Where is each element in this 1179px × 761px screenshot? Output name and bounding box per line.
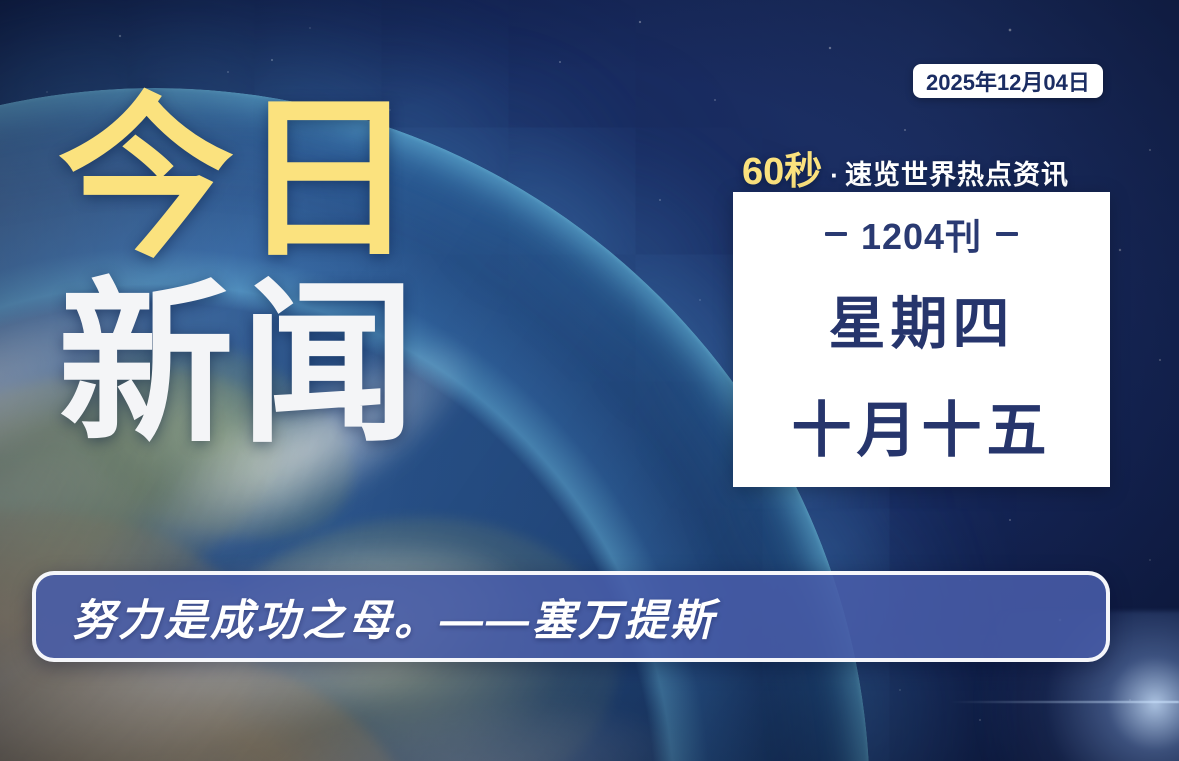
dash-left-icon xyxy=(825,232,847,236)
lunar-date-label: 十月十五 xyxy=(792,382,1052,469)
news-poster: 今日 新闻 2025年12月04日 60秒 · 速览世界热点资讯 1204刊 星… xyxy=(0,0,1179,761)
quote-bar: 努力是成功之母。——塞万提斯 xyxy=(32,571,1110,662)
tagline-separator-icon: · xyxy=(830,160,839,191)
date-badge: 2025年12月04日 xyxy=(913,64,1103,98)
issue-row: 1204刊 xyxy=(825,208,1018,260)
title-line-news: 新闻 xyxy=(58,281,422,450)
weekday-label: 星期四 xyxy=(829,278,1015,360)
date-info-card: 1204刊 星期四 十月十五 xyxy=(733,192,1110,487)
tagline-seconds: 60秒 xyxy=(742,140,822,195)
tagline-text: 速览世界热点资讯 xyxy=(845,153,1069,192)
lens-flare-streak xyxy=(949,701,1179,703)
dash-right-icon xyxy=(996,232,1018,236)
quote-text: 努力是成功之母。——塞万提斯 xyxy=(72,586,716,648)
title-line-today: 今日 xyxy=(58,96,422,265)
issue-number: 1204刊 xyxy=(861,208,982,260)
poster-title: 今日 新闻 xyxy=(58,96,422,450)
tagline: 60秒 · 速览世界热点资讯 xyxy=(742,140,1069,195)
